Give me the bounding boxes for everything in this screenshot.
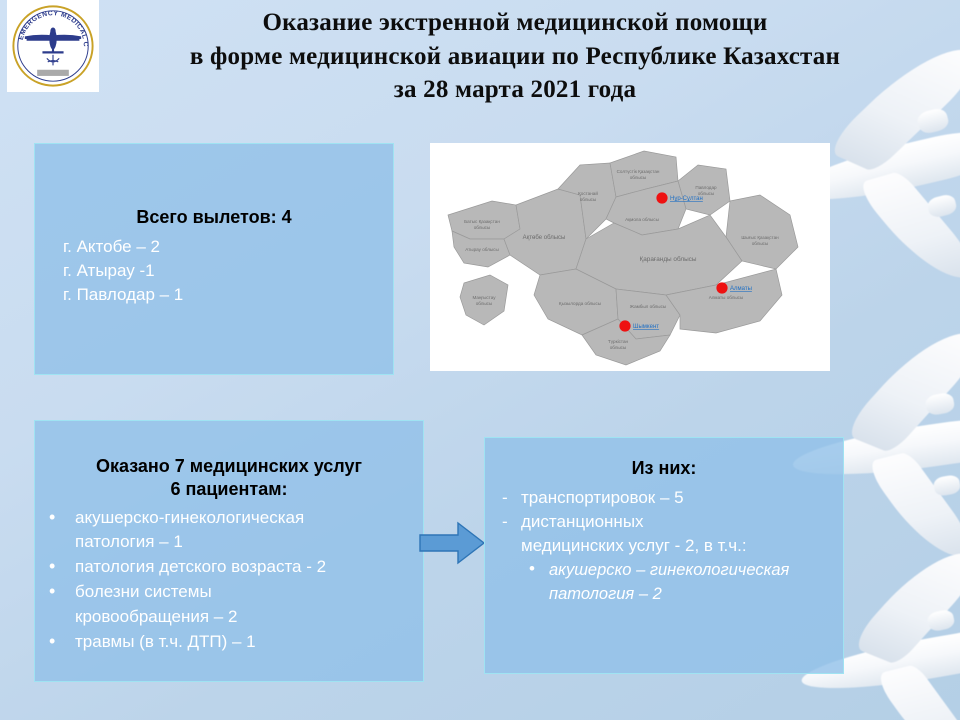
- list-item: акушерско-гинекологическая патология – 1: [35, 506, 423, 554]
- city-dot-almaty: [716, 282, 727, 293]
- list-item-line-1: акушерско-гинекологическая: [75, 508, 304, 527]
- list-item-line-2: кровообращения – 2: [75, 607, 237, 626]
- emergency-medical-care-icon: EMERGENCY MEDICAL CARE OF KAZAKHSTAN: [9, 2, 97, 90]
- medical-services-heading-line-1: Оказано 7 медицинских услуг: [35, 455, 423, 478]
- map-label-qyzylorda: Қызылорда облысы: [559, 301, 601, 306]
- map-label-qaragandy: Қарағанды облысы: [640, 255, 697, 263]
- city-dot-nur-sultan: [656, 192, 667, 203]
- map-label-turkistan-2: облысы: [610, 345, 627, 350]
- list-item: транспортировок – 5: [485, 486, 843, 510]
- medical-services-panel: Оказано 7 медицинских услуг 6 пациентам:…: [34, 420, 424, 682]
- map-label-almaty-oblysy: Алматы облысы: [709, 295, 744, 300]
- map-label-pavlodar: Павлодар: [695, 185, 717, 190]
- city-dot-shymkent: [619, 320, 630, 331]
- list-item: медицинских услуг - 2, в т.ч.:: [485, 534, 843, 558]
- map-region-mangystau: [460, 275, 508, 325]
- map-label-aqtobe: Ақтөбе облысы: [523, 235, 566, 241]
- city-label-shymkent: Шымкент: [633, 324, 659, 330]
- title-line-2: в форме медицинской авиации по Республик…: [120, 40, 910, 74]
- total-flights-panel: Всего вылетов: 4 г. Актобе – 2 г. Атырау…: [34, 143, 394, 375]
- map-label-batys-qazaqstan-2: облысы: [474, 225, 491, 230]
- city-label-nur-sultan: Нұр-Сұлтан: [670, 196, 703, 202]
- map-label-soltustik-2: облысы: [630, 175, 647, 180]
- map-label-shygys-2: облысы: [752, 241, 769, 246]
- list-item: патология детского возраста - 2: [35, 555, 423, 579]
- list-item: акушерско – гинекологическая: [485, 559, 843, 583]
- map-label-qostanai: Қостанай: [578, 190, 598, 196]
- medical-services-heading-line-2: 6 пациентам:: [35, 478, 423, 501]
- total-flights-heading: Всего вылетов: 4: [35, 206, 393, 229]
- map-label-batys-qazaqstan: Батыс Қазақстан: [464, 219, 500, 224]
- list-item: травмы (в т.ч. ДТП) – 1: [35, 630, 423, 654]
- list-item: патология – 2: [485, 583, 843, 607]
- map-label-zhambyl: Жамбыл облысы: [630, 304, 666, 309]
- medical-services-heading: Оказано 7 медицинских услуг 6 пациентам:: [35, 455, 423, 500]
- title-line-1: Оказание экстренной медицинской помощи: [120, 6, 910, 40]
- slide-title: Оказание экстренной медицинской помощи в…: [120, 6, 910, 107]
- breakdown-sub-list: акушерско – гинекологическая патология –…: [485, 559, 843, 607]
- title-line-3: за 28 марта 2021 года: [120, 73, 910, 107]
- arrow-right-icon: [418, 519, 486, 567]
- list-item: болезни системы кровообращения – 2: [35, 580, 423, 628]
- flights-city-list: г. Актобе – 2 г. Атырау -1 г. Павлодар –…: [35, 235, 393, 307]
- map-region-aqtobe: [504, 189, 586, 275]
- airplane-wing: [853, 171, 960, 285]
- list-item: г. Атырау -1: [35, 259, 393, 283]
- breakdown-list: транспортировок – 5 дистанционных медици…: [485, 486, 843, 558]
- map-label-mangystau-2: облысы: [476, 301, 493, 306]
- breakdown-heading: Из них:: [485, 457, 843, 480]
- flow-arrow-right: [418, 519, 486, 567]
- airplane-engine: [926, 193, 958, 219]
- airplane-engine: [933, 474, 960, 497]
- map-label-turkistan: Түркістан: [608, 339, 629, 344]
- map-label-mangystau: Маңғыстау: [472, 295, 496, 300]
- map-label-atyrau: Атырау облысы: [465, 247, 499, 252]
- kazakhstan-regions-map: Батыс Қазақстан облысы Атырау облысы Маң…: [430, 143, 830, 371]
- city-label-almaty: Алматы: [730, 286, 752, 292]
- list-item: г. Павлодар – 1: [35, 283, 393, 307]
- map-label-aqmola: Ақмола облысы: [625, 217, 659, 222]
- list-item-line-2: патология – 1: [75, 532, 183, 551]
- breakdown-panel: Из них: транспортировок – 5 дистанционны…: [484, 437, 844, 674]
- map-label-soltustik: Солтүстік Қазақстан: [617, 169, 660, 174]
- map-label-qostanai-2: облысы: [580, 197, 597, 202]
- kazakhstan-map-panel: Батыс Қазақстан облысы Атырау облысы Маң…: [430, 143, 830, 371]
- presentation-slide: EMERGENCY MEDICAL CARE OF KAZAKHSTAN Ока…: [0, 0, 960, 720]
- map-label-shygys: Шығыс Қазақстан: [741, 235, 779, 240]
- organization-logo: EMERGENCY MEDICAL CARE OF KAZAKHSTAN: [7, 0, 99, 92]
- list-item: г. Актобе – 2: [35, 235, 393, 259]
- list-item: дистанционных: [485, 510, 843, 534]
- medical-services-list: акушерско-гинекологическая патология – 1…: [35, 506, 423, 654]
- list-item-line-1: болезни системы: [75, 582, 212, 601]
